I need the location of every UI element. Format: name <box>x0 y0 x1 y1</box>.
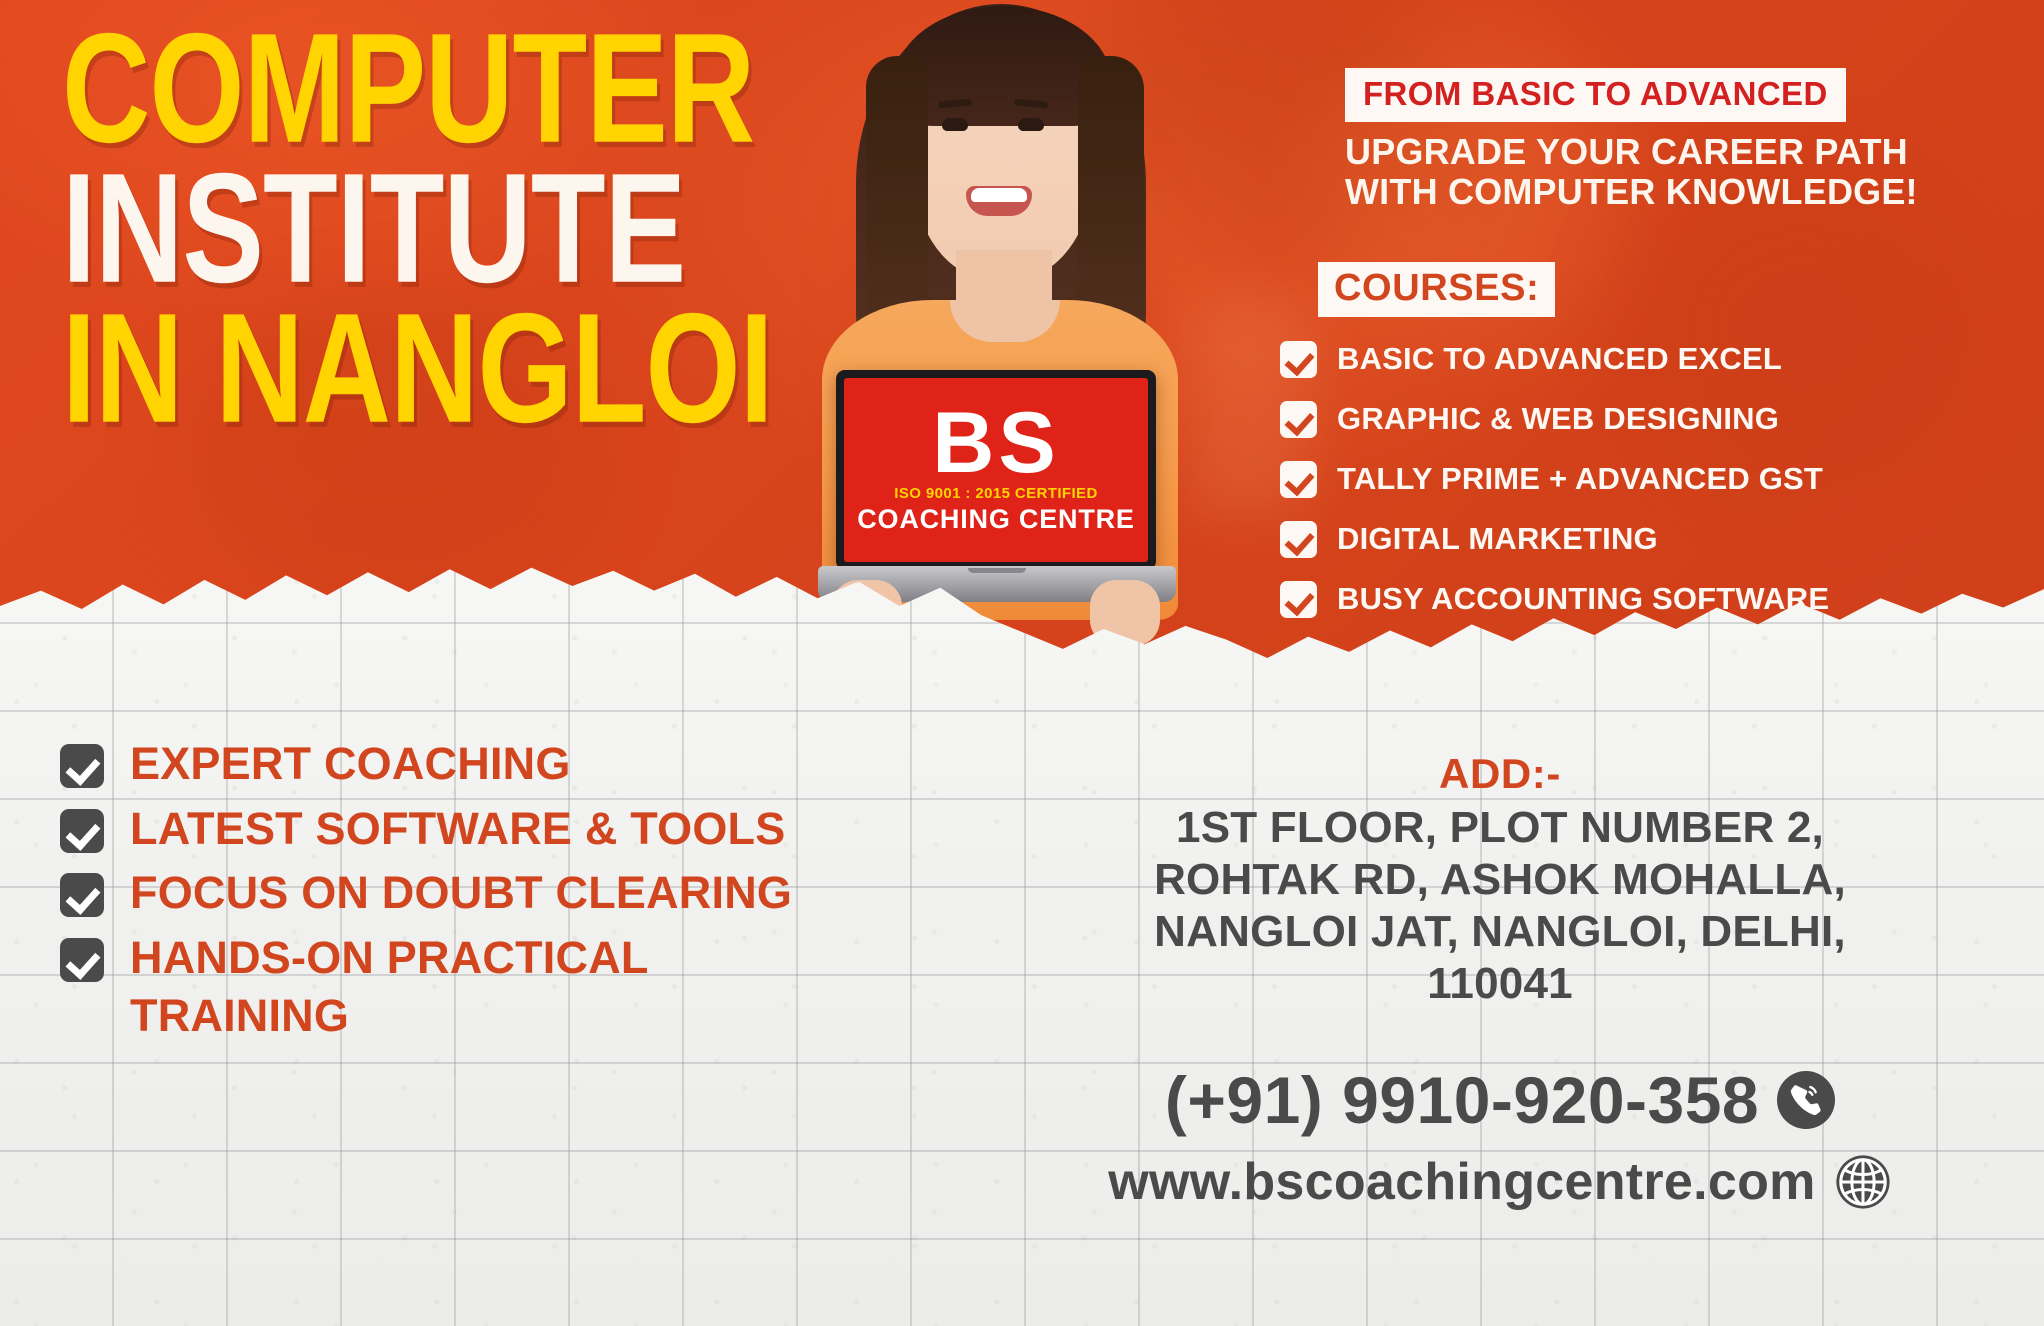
subheadline-line-2: WITH COMPUTER KNOWLEDGE! <box>1345 172 1918 212</box>
feature-label: LATEST SOFTWARE & TOOLS <box>130 800 785 859</box>
course-label: BUSY ACCOUNTING SOFTWARE <box>1337 581 1829 617</box>
list-item: LATEST SOFTWARE & TOOLS <box>60 800 860 859</box>
logo-card: BS ISO 9001 : 2015 CERTIFIED COACHING CE… <box>844 378 1148 562</box>
list-item: HANDS-ON PRACTICAL TRAINING <box>60 929 860 1046</box>
checkmark-icon <box>60 938 104 982</box>
course-label: BASIC TO ADVANCED EXCEL <box>1337 341 1782 377</box>
address-line: ROHTAK RD, ASHOK MOHALLA, <box>1090 854 1910 906</box>
checkmark-icon <box>60 809 104 853</box>
list-item: GRAPHIC & WEB DESIGNING <box>1280 400 1829 438</box>
course-label: GRAPHIC & WEB DESIGNING <box>1337 401 1779 437</box>
checkmark-icon <box>1280 401 1317 438</box>
address-line: 110041 <box>1090 958 1910 1010</box>
brand-name-label: COACHING CENTRE <box>857 504 1135 535</box>
course-label: DIGITAL MARKETING <box>1337 521 1658 557</box>
feature-label: EXPERT COACHING <box>130 735 571 794</box>
feature-label: HANDS-ON PRACTICAL TRAINING <box>130 929 830 1046</box>
globe-icon[interactable] <box>1834 1153 1892 1211</box>
tagline-banner: FROM BASIC TO ADVANCED <box>1345 68 1846 122</box>
courses-heading-banner: COURSES: <box>1318 262 1555 317</box>
address-label: ADD:- <box>1090 750 1910 798</box>
subheadline: UPGRADE YOUR CAREER PATH WITH COMPUTER K… <box>1345 132 1918 213</box>
feature-label: FOCUS ON DOUBT CLEARING <box>130 864 792 923</box>
course-label: TALLY PRIME + ADVANCED GST <box>1337 461 1823 497</box>
iso-certification-label: ISO 9001 : 2015 CERTIFIED <box>894 485 1097 502</box>
checkmark-icon <box>1280 521 1317 558</box>
laptop-screen: BS ISO 9001 : 2015 CERTIFIED COACHING CE… <box>836 370 1156 570</box>
courses-heading-text: COURSES: <box>1334 267 1539 309</box>
headline-line-2: INSTITUTE <box>62 166 796 291</box>
checkmark-icon <box>1280 461 1317 498</box>
list-item: BASIC TO ADVANCED EXCEL <box>1280 340 1829 378</box>
phone-row[interactable]: (+91) 9910-920-358 <box>1090 1062 1910 1138</box>
address-line: 1ST FLOOR, PLOT NUMBER 2, <box>1090 802 1910 854</box>
teeth <box>971 188 1027 202</box>
eye-right <box>1018 118 1044 131</box>
checkmark-icon <box>1280 581 1317 618</box>
list-item: TALLY PRIME + ADVANCED GST <box>1280 460 1829 498</box>
list-item: BUSY ACCOUNTING SOFTWARE <box>1280 580 1829 618</box>
features-list: EXPERT COACHING LATEST SOFTWARE & TOOLS … <box>60 735 860 1052</box>
website-url[interactable]: www.bscoachingcentre.com <box>1108 1152 1815 1212</box>
headline-line-3: IN NANGLOI <box>62 306 796 431</box>
checkmark-icon <box>60 873 104 917</box>
phone-icon[interactable] <box>1777 1071 1835 1129</box>
subheadline-line-1: UPGRADE YOUR CAREER PATH <box>1345 132 1918 172</box>
checkmark-icon <box>1280 341 1317 378</box>
list-item: EXPERT COACHING <box>60 735 860 794</box>
eye-left <box>942 118 968 131</box>
contact-block: ADD:- 1ST FLOOR, PLOT NUMBER 2, ROHTAK R… <box>1090 750 1910 1212</box>
page-title: COMPUTER INSTITUTE IN NANGLOI <box>62 26 782 402</box>
promotional-banner: COMPUTER INSTITUTE IN NANGLOI BS ISO 900… <box>0 0 2044 1326</box>
tagline-text: FROM BASIC TO ADVANCED <box>1363 75 1828 112</box>
headline-line-1: COMPUTER <box>62 26 796 151</box>
checkmark-icon <box>60 744 104 788</box>
list-item: FOCUS ON DOUBT CLEARING <box>60 864 860 923</box>
address-line: NANGLOI JAT, NANGLOI, DELHI, <box>1090 906 1910 958</box>
website-row[interactable]: www.bscoachingcentre.com <box>1090 1152 1910 1212</box>
courses-list: BASIC TO ADVANCED EXCEL GRAPHIC & WEB DE… <box>1280 340 1829 640</box>
brand-logo-mark: BS <box>932 405 1059 482</box>
list-item: DIGITAL MARKETING <box>1280 520 1829 558</box>
phone-number[interactable]: (+91) 9910-920-358 <box>1165 1062 1759 1138</box>
